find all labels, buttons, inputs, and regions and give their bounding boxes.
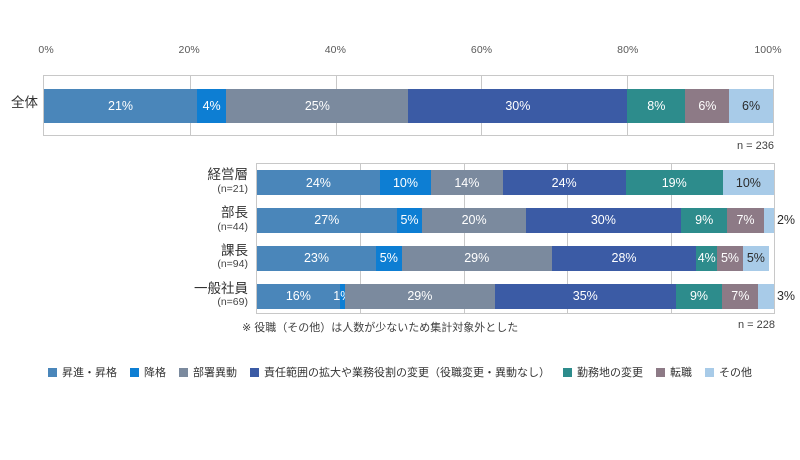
bar-segment[interactable]: 24%	[503, 170, 626, 195]
bar-segment-label: 6%	[698, 100, 716, 113]
stacked-bar[interactable]: 24%10%14%24%19%10%	[257, 170, 774, 195]
bar-segment[interactable]: 21%	[44, 89, 197, 123]
legend-swatch-icon	[705, 368, 714, 377]
bar-segment[interactable]: 7%	[722, 284, 758, 309]
legend-swatch-icon	[48, 368, 57, 377]
x-axis-tick: 0%	[38, 44, 53, 56]
legend-swatch-icon	[250, 368, 259, 377]
category-label-text: 部長	[144, 205, 248, 221]
bar-segment-label: 4%	[698, 252, 716, 265]
bar-segment-label: 2%	[777, 214, 795, 227]
x-axis-tick: 20%	[179, 44, 200, 56]
category-label-count: (n=44)	[144, 221, 248, 233]
position-plot-area: 24%10%14%24%19%10%27%5%20%30%9%7%2%23%5%…	[256, 163, 775, 314]
category-label-課長: 課長(n=94)	[144, 243, 248, 271]
bar-segment-label: 10%	[393, 177, 418, 190]
stacked-bar[interactable]: 23%5%29%28%4%5%5%	[257, 246, 774, 271]
bar-segment[interactable]: 23%	[257, 246, 376, 271]
overall-n-label: n = 236	[737, 140, 774, 152]
legend-item[interactable]: 昇進・昇格	[48, 364, 117, 380]
category-label-部長: 部長(n=44)	[144, 205, 248, 233]
category-label-count: (n=69)	[144, 296, 248, 308]
bar-segment-label: 23%	[304, 252, 329, 265]
bar-segment[interactable]: 35%	[495, 284, 676, 309]
legend-item[interactable]: 責任範囲の拡大や業務役割の変更（役職変更・異動なし）	[250, 364, 550, 380]
bar-segment-label: 10%	[736, 177, 761, 190]
category-label-text: 課長	[144, 243, 248, 259]
bar-segment-label: 3%	[777, 290, 795, 303]
bar-segment-label: 7%	[736, 214, 754, 227]
stacked-bar[interactable]: 21%4%25%30%8%6%6%	[44, 89, 773, 123]
bar-segment[interactable]: 4%	[197, 89, 226, 123]
bar-segment-label: 6%	[742, 100, 760, 113]
bar-segment-label: 4%	[203, 100, 221, 113]
bar-segment[interactable]: 6%	[729, 89, 773, 123]
legend-item[interactable]: 降格	[130, 364, 166, 380]
bar-segment[interactable]: 30%	[526, 208, 681, 233]
bar-segment[interactable]: 24%	[257, 170, 380, 195]
bar-segment-label: 30%	[505, 100, 530, 113]
legend-label: 転職	[670, 364, 692, 380]
bar-segment[interactable]: 19%	[626, 170, 723, 195]
category-label-text: 経営層	[144, 167, 248, 183]
bar-segment[interactable]: 9%	[676, 284, 723, 309]
overall-x-axis: 0%20%40%60%80%100%	[43, 44, 774, 58]
x-axis-tick: 80%	[617, 44, 638, 56]
category-label-overall-text: 全体	[0, 95, 38, 111]
bar-segment[interactable]: 8%	[627, 89, 685, 123]
position-chart-panel: 24%10%14%24%19%10%27%5%20%30%9%7%2%23%5%…	[256, 163, 775, 333]
position-n-label: n = 228	[738, 319, 775, 331]
bar-segment-label: 29%	[464, 252, 489, 265]
bar-segment-label: 24%	[306, 177, 331, 190]
bar-segment[interactable]: 16%	[257, 284, 340, 309]
bar-segment[interactable]: 5%	[717, 246, 743, 271]
x-axis-tick: 100%	[754, 44, 781, 56]
bar-segment[interactable]: 3%	[758, 284, 774, 309]
overall-plot-area: 21%4%25%30%8%6%6%	[43, 75, 774, 136]
bar-segment-label: 28%	[612, 252, 637, 265]
bar-segment[interactable]: 10%	[380, 170, 431, 195]
bar-segment-label: 9%	[690, 290, 708, 303]
bar-segment[interactable]: 4%	[696, 246, 717, 271]
overall-chart-panel: 0%20%40%60%80%100% 21%4%25%30%8%6%6% 全体 …	[43, 44, 774, 156]
footnote-text: ※ 役職（その他）は人数が少ないため集計対象外とした	[242, 319, 518, 335]
bar-segment-label: 21%	[108, 100, 133, 113]
legend-swatch-icon	[179, 368, 188, 377]
bar-segment-label: 8%	[647, 100, 665, 113]
bar-segment-label: 30%	[591, 214, 616, 227]
bar-segment-label: 5%	[721, 252, 739, 265]
bar-segment-label: 5%	[380, 252, 398, 265]
chart-legend: 昇進・昇格降格部署異動責任範囲の拡大や業務役割の変更（役職変更・異動なし）勤務地…	[0, 364, 800, 380]
bar-segment-label: 35%	[573, 290, 598, 303]
bar-segment[interactable]: 29%	[345, 284, 495, 309]
bar-segment[interactable]: 9%	[681, 208, 728, 233]
bar-segment-label: 7%	[731, 290, 749, 303]
legend-label: その他	[719, 364, 752, 380]
bar-segment[interactable]: 7%	[727, 208, 763, 233]
stacked-bar[interactable]: 27%5%20%30%9%7%2%	[257, 208, 774, 233]
bar-segment[interactable]: 29%	[402, 246, 552, 271]
legend-swatch-icon	[130, 368, 139, 377]
legend-item[interactable]: 部署異動	[179, 364, 237, 380]
legend-swatch-icon	[656, 368, 665, 377]
bar-segment[interactable]: 5%	[376, 246, 402, 271]
bar-segment[interactable]: 10%	[723, 170, 774, 195]
legend-label: 降格	[144, 364, 166, 380]
bar-segment[interactable]: 14%	[431, 170, 503, 195]
bar-segment[interactable]: 25%	[226, 89, 408, 123]
bar-segment[interactable]: 6%	[685, 89, 729, 123]
bar-segment[interactable]: 28%	[552, 246, 697, 271]
bar-segment-label: 16%	[286, 290, 311, 303]
x-axis-tick: 60%	[471, 44, 492, 56]
category-label-経営層: 経営層(n=21)	[144, 167, 248, 195]
bar-segment-label: 19%	[662, 177, 687, 190]
bar-segment-label: 29%	[407, 290, 432, 303]
bar-segment[interactable]: 2%	[764, 208, 774, 233]
stacked-bar[interactable]: 16%1%29%35%9%7%3%	[257, 284, 774, 309]
bar-segment-label: 20%	[462, 214, 487, 227]
bar-segment-label: 27%	[314, 214, 339, 227]
legend-swatch-icon	[563, 368, 572, 377]
legend-item[interactable]: 勤務地の変更	[563, 364, 643, 380]
bar-segment[interactable]: 20%	[422, 208, 525, 233]
bar-segment-label: 9%	[695, 214, 713, 227]
category-label-一般社員: 一般社員(n=69)	[144, 281, 248, 309]
bar-segment[interactable]: 27%	[257, 208, 397, 233]
category-label-overall: 全体	[0, 95, 38, 111]
legend-label: 昇進・昇格	[62, 364, 117, 380]
legend-label: 部署異動	[193, 364, 237, 380]
bar-segment-label: 14%	[454, 177, 479, 190]
bar-segment-label: 5%	[747, 252, 765, 265]
bar-segment-label: 25%	[305, 100, 330, 113]
x-axis-tick: 40%	[325, 44, 346, 56]
legend-label: 勤務地の変更	[577, 364, 643, 380]
legend-item[interactable]: その他	[705, 364, 752, 380]
bar-segment-label: 24%	[552, 177, 577, 190]
bar-segment[interactable]: 5%	[397, 208, 423, 233]
bar-segment-label: 5%	[400, 214, 418, 227]
legend-label: 責任範囲の拡大や業務役割の変更（役職変更・異動なし）	[264, 364, 550, 380]
bar-segment[interactable]: 30%	[408, 89, 627, 123]
category-label-count: (n=94)	[144, 258, 248, 270]
legend-item[interactable]: 転職	[656, 364, 692, 380]
bar-segment[interactable]: 5%	[743, 246, 769, 271]
category-label-text: 一般社員	[144, 281, 248, 297]
category-label-count: (n=21)	[144, 183, 248, 195]
